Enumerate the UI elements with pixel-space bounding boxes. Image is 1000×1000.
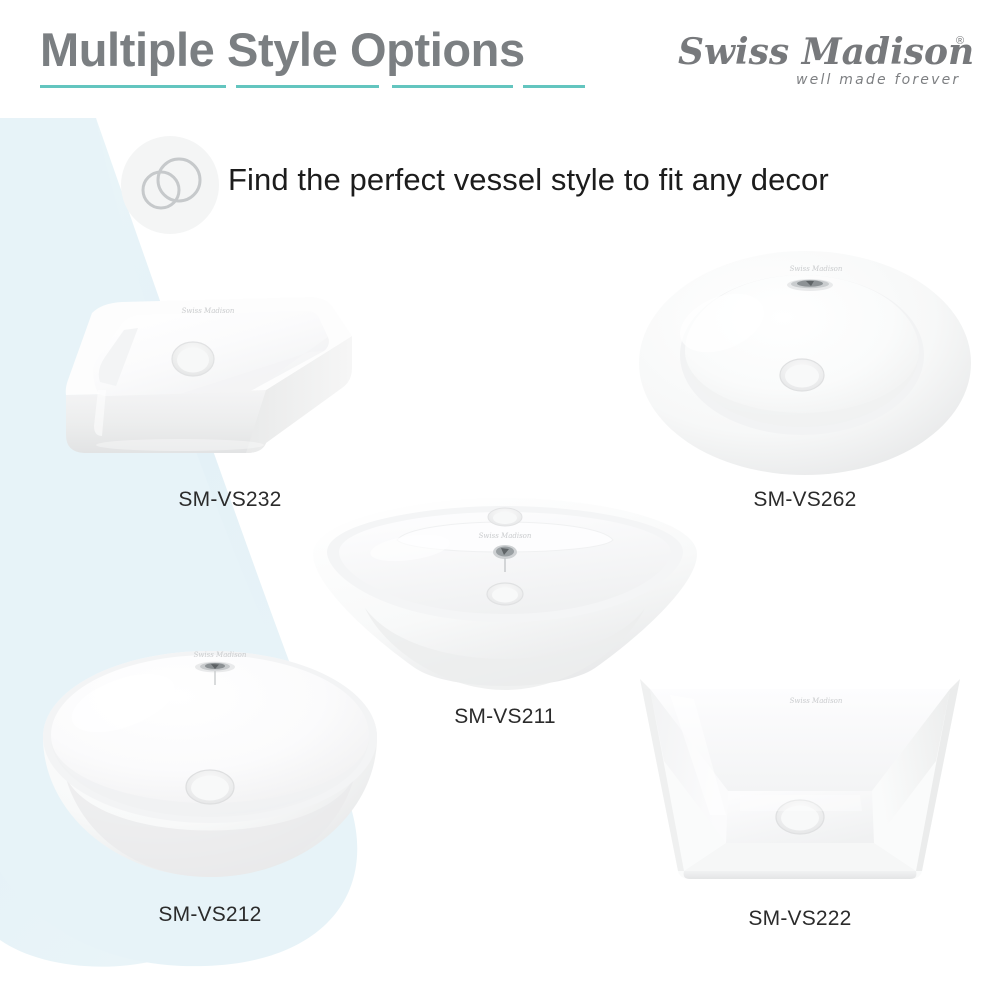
brand-logo: Swiss Madison ® well made forever: [674, 26, 974, 94]
logo-tagline-text: well made forever: [796, 72, 960, 88]
product-brandmark: Swiss Madison: [790, 265, 843, 273]
product-label-vs212: SM-VS212: [35, 903, 385, 927]
product-brandmark: Swiss Madison: [194, 651, 247, 659]
product-tile-vs212[interactable]: Swiss Madison SM-VS212: [35, 645, 385, 945]
overlapping-circles-icon: [121, 136, 219, 234]
title-underline: [40, 84, 585, 90]
product-brandmark: Swiss Madison: [182, 307, 235, 315]
square-vessel-sink-image: Swiss Madison: [60, 240, 400, 490]
logo-name-text: Swiss Madison: [678, 31, 974, 73]
infographic-page: Multiple Style Options Swiss Madison ® w…: [0, 0, 1000, 1000]
product-tile-vs262[interactable]: Swiss Madison SM-VS262: [630, 245, 980, 530]
product-tile-vs222[interactable]: Swiss Madison SM-VS222: [630, 665, 970, 945]
registered-mark: ®: [956, 35, 964, 47]
round-rolled-rim-vessel-sink-image: Swiss Madison: [630, 245, 980, 485]
product-tile-vs232[interactable]: Swiss Madison SM-VS232: [60, 240, 400, 530]
subtitle-text: Find the perfect vessel style to fit any…: [228, 162, 829, 198]
product-label-vs222: SM-VS222: [630, 907, 970, 931]
page-title: Multiple Style Options: [40, 24, 525, 76]
logo-wordmark-icon: Swiss Madison ® well made forever: [674, 26, 974, 96]
product-brandmark: Swiss Madison: [790, 697, 843, 705]
tapered-square-vessel-sink-image: Swiss Madison: [630, 665, 970, 905]
product-brandmark: Swiss Madison: [479, 532, 532, 540]
round-deep-bowl-vessel-sink-image: Swiss Madison: [35, 645, 385, 900]
